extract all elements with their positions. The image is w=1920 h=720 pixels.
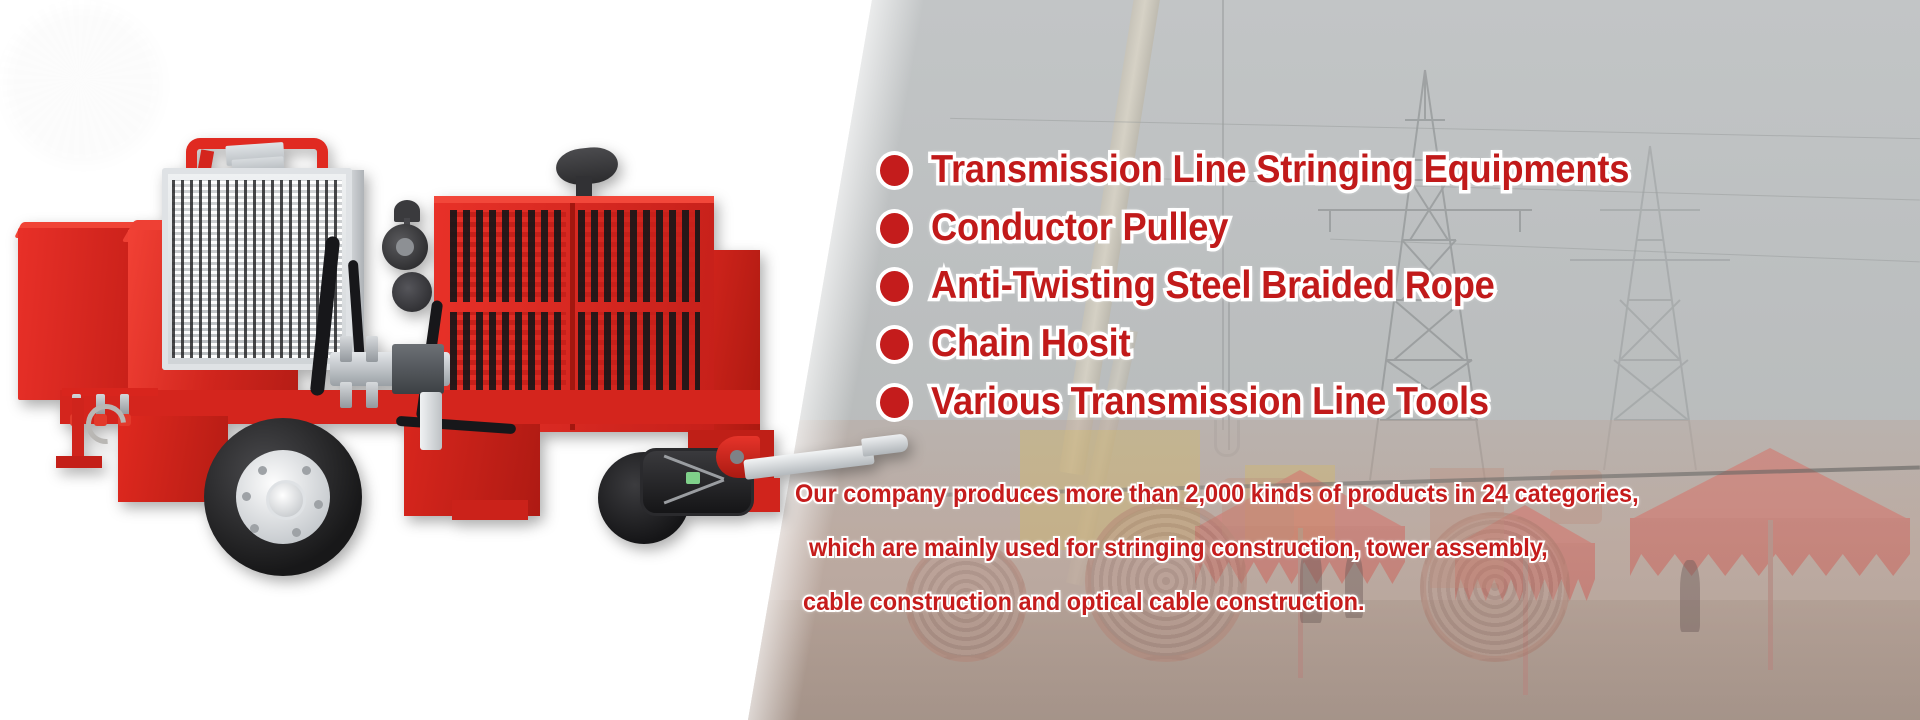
list-item-label: Anti-Twisting Steel Braided Rope (931, 264, 1495, 308)
product-list: Transmission Line Stringing Equipments C… (880, 144, 1682, 434)
description-line-2: which are mainly used for stringing cons… (809, 534, 1849, 563)
bullet-dot-icon (880, 155, 909, 186)
list-item[interactable]: Anti-Twisting Steel Braided Rope (880, 260, 1682, 312)
list-item[interactable]: Transmission Line Stringing Equipments (880, 144, 1682, 196)
bullet-dot-icon (880, 329, 909, 360)
bullet-dot-icon (880, 213, 909, 244)
list-item[interactable]: Chain Hosit (880, 318, 1682, 370)
list-item[interactable]: Conductor Pulley (880, 202, 1682, 254)
bullet-dot-icon (880, 271, 909, 302)
description-line-3: cable construction and optical cable con… (803, 588, 1848, 617)
list-item[interactable]: Various Transmission Line Tools (880, 376, 1682, 428)
promo-banner: Transmission Line Stringing Equipments C… (0, 0, 1920, 720)
banner-content: Transmission Line Stringing Equipments C… (0, 0, 1920, 720)
list-item-label: Transmission Line Stringing Equipments (931, 148, 1629, 192)
list-item-label: Conductor Pulley (931, 206, 1228, 250)
list-item-label: Various Transmission Line Tools (931, 380, 1489, 424)
bullet-dot-icon (880, 387, 909, 418)
list-item-label: Chain Hosit (931, 322, 1130, 366)
description-line-1: Our company produces more than 2,000 kin… (795, 480, 1848, 509)
company-description: Our company produces more than 2,000 kin… (795, 480, 1915, 642)
